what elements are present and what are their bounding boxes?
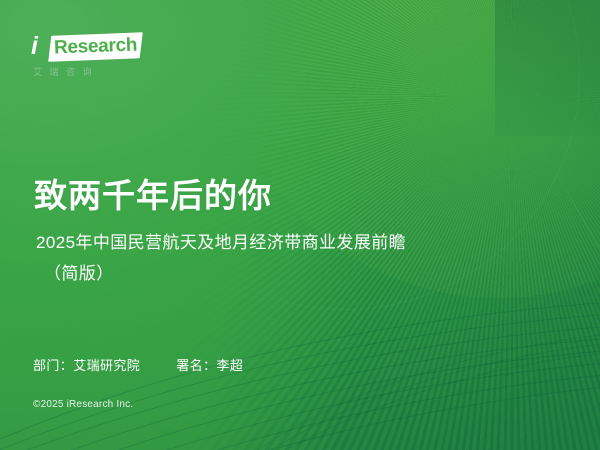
cover-subtitle: 2025年中国民营航天及地月经济带商业发展前瞻 （简版） [36, 227, 556, 289]
slide-content: i Research 艾瑞咨询 致两千年后的你 2025年中国民营航天及地月经济… [0, 0, 600, 450]
copyright-notice: ©2025 iResearch Inc. [33, 398, 133, 412]
byline-author: 署名：李超 [176, 358, 243, 373]
logo-letter-i: i [31, 33, 38, 60]
cover-byline: 部门：艾瑞研究院 署名：李超 [33, 357, 243, 375]
report-cover-slide: i Research 艾瑞咨询 致两千年后的你 2025年中国民营航天及地月经济… [0, 0, 600, 450]
cover-subtitle-line-2: （简版） [36, 258, 556, 289]
byline-department: 部门：艾瑞研究院 [33, 358, 140, 373]
logo-mark: i Research [31, 33, 146, 63]
iresearch-logo: i Research 艾瑞咨询 [31, 33, 151, 85]
logo-wordmark: Research [54, 35, 138, 59]
cover-title: 致两千年后的你 [34, 174, 272, 218]
cover-subtitle-line-1: 2025年中国民营航天及地月经济带商业发展前瞻 [36, 233, 406, 252]
logo-chinese-name: 艾瑞咨询 [33, 66, 99, 78]
